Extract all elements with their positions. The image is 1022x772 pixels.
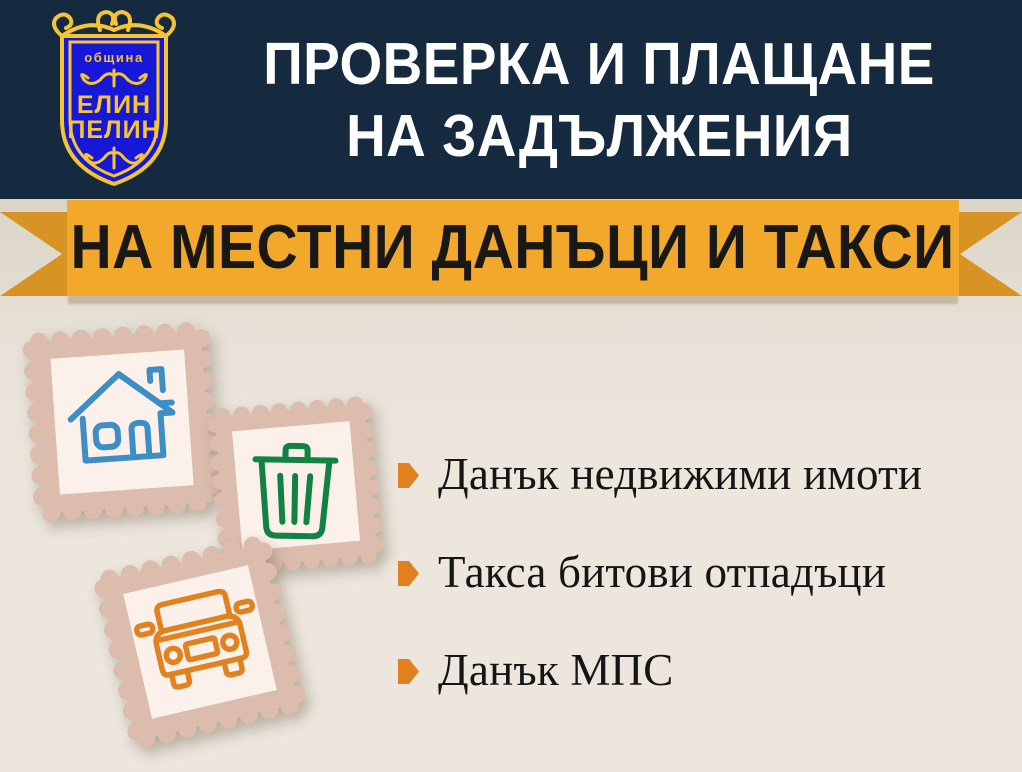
list-item-label: Данък недвижими имоти bbox=[438, 449, 922, 499]
logo-name-line1: ЕЛИН bbox=[77, 91, 151, 119]
poster-canvas: община ЕЛИН ПЕЛИН bbox=[0, 0, 1022, 772]
header-title-line-1: ПРОВЕРКА И ПЛАЩАНЕ bbox=[263, 29, 935, 99]
list-item[interactable]: Данък МПС bbox=[398, 621, 1013, 719]
list-item-label: Данък МПС bbox=[438, 645, 673, 695]
ribbon-banner: НА МЕСТНИ ДАНЪЦИ И ТАКСИ bbox=[0, 199, 1022, 309]
stamp-card-house bbox=[13, 312, 231, 532]
ribbon-text: НА МЕСТНИ ДАНЪЦИ И ТАКСИ bbox=[71, 217, 955, 279]
list-item[interactable]: Данък недвижими имоти bbox=[398, 425, 1013, 523]
list-item-label: Такса битови отпадъци bbox=[438, 547, 886, 597]
logo-name-line2: ПЕЛИН bbox=[67, 116, 160, 144]
trash-bin-icon bbox=[254, 445, 336, 536]
header-title-line-2: НА ЗАДЪЛЖЕНИЯ bbox=[346, 101, 853, 171]
list-item[interactable]: Такса битови отпадъци bbox=[398, 523, 1013, 621]
ribbon-shadow bbox=[68, 295, 958, 304]
arrow-bullet-icon bbox=[398, 659, 419, 684]
coat-of-arms-logo: община ЕЛИН ПЕЛИН bbox=[44, 8, 184, 190]
arrow-bullet-icon bbox=[398, 561, 419, 586]
arrow-bullet-icon bbox=[398, 463, 419, 488]
ribbon-band: НА МЕСТНИ ДАНЪЦИ И ТАКСИ bbox=[67, 200, 959, 296]
logo-top-text: община bbox=[84, 50, 144, 65]
header-title: ПРОВЕРКА И ПЛАЩАНЕ НА ЗАДЪЛЖЕНИЯ bbox=[186, 14, 1012, 186]
header-bar: община ЕЛИН ПЕЛИН bbox=[0, 0, 1022, 199]
tax-type-list: Данък недвижими имоти Такса битови отпад… bbox=[398, 425, 1013, 719]
stamp-card-car bbox=[85, 527, 315, 757]
